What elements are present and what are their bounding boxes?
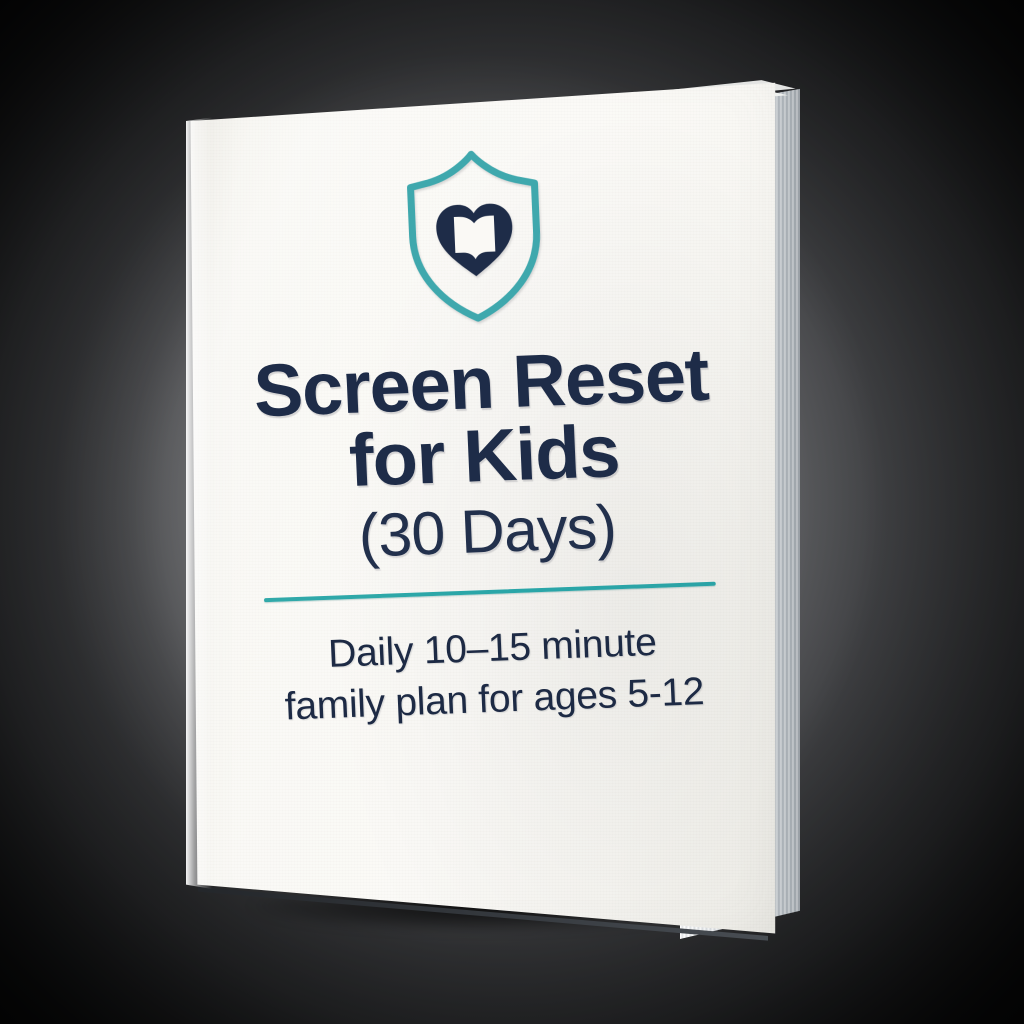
cover-paper-grain: [186, 56, 786, 946]
book-mockup: Screen Reset for Kids (30 Days) Daily 10…: [0, 0, 1024, 1024]
book-front-cover: [186, 56, 786, 946]
screenshot-canvas: Screen Reset for Kids (30 Days) Daily 10…: [0, 0, 1024, 1024]
